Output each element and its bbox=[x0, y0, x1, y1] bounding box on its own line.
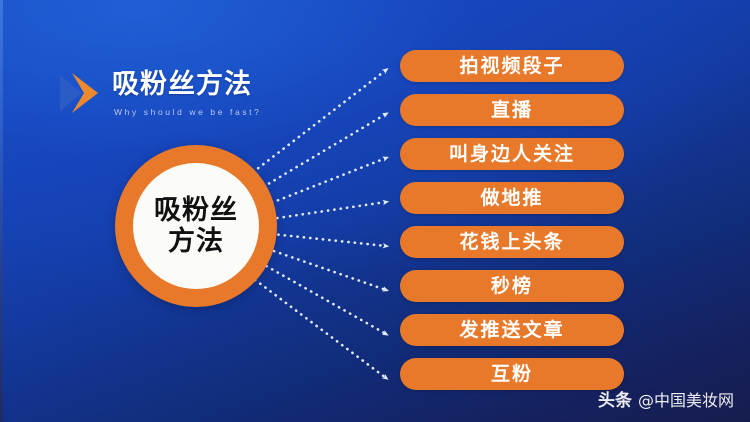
connector-line-5 bbox=[272, 234, 386, 246]
method-pill-8[interactable]: 互粉 bbox=[400, 358, 624, 390]
method-pill-label: 互粉 bbox=[491, 363, 533, 385]
page-subtitle: Why should we be fast? bbox=[114, 107, 261, 117]
watermark-platform-badge: 头条 bbox=[598, 386, 632, 411]
connector-line-4 bbox=[271, 202, 386, 219]
method-pill-1[interactable]: 拍视频段子 bbox=[400, 50, 624, 82]
method-pill-label: 叫身边人关注 bbox=[449, 143, 575, 165]
method-pill-label: 秒榜 bbox=[491, 275, 533, 297]
page-title: 吸粉丝方法 bbox=[112, 68, 261, 102]
center-hub-inner: 吸粉丝 方法 bbox=[133, 163, 259, 289]
connector-lines-layer bbox=[0, 0, 750, 422]
watermark: 头条 @中国美妆网 bbox=[598, 386, 734, 411]
connector-line-3 bbox=[266, 158, 386, 205]
left-edge-strip bbox=[0, 0, 3, 422]
center-hub-circle[interactable]: 吸粉丝 方法 bbox=[115, 145, 277, 307]
method-pill-label: 发推送文章 bbox=[459, 319, 564, 341]
method-pill-7[interactable]: 发推送文章 bbox=[400, 314, 624, 346]
method-pill-list: 拍视频段子 直播 叫身边人关注 做地推 花钱上头条 秒榜 发推送文章 互粉 bbox=[400, 50, 624, 390]
method-pill-6[interactable]: 秒榜 bbox=[400, 270, 624, 302]
method-pill-label: 做地推 bbox=[480, 187, 543, 209]
connector-line-6 bbox=[268, 249, 386, 290]
method-pill-label: 花钱上头条 bbox=[459, 231, 564, 253]
brand-header: 吸粉丝方法 Why should we be fast? bbox=[58, 70, 358, 132]
connector-line-8 bbox=[250, 276, 386, 378]
method-pill-5[interactable]: 花钱上头条 bbox=[400, 226, 624, 258]
method-pill-3[interactable]: 叫身边人关注 bbox=[400, 138, 624, 170]
double-chevron-arrow-logo-icon bbox=[58, 72, 106, 114]
method-pill-2[interactable]: 直播 bbox=[400, 94, 624, 126]
brand-text-block: 吸粉丝方法 Why should we be fast? bbox=[112, 68, 261, 117]
watermark-account-name: @中国美妆网 bbox=[638, 387, 734, 411]
connector-line-7 bbox=[261, 263, 386, 334]
method-pill-4[interactable]: 做地推 bbox=[400, 182, 624, 214]
method-pill-label: 拍视频段子 bbox=[459, 55, 564, 77]
slide-canvas: 吸粉丝方法 Why should we be fast? 吸粉丝 方法 拍视频段… bbox=[0, 0, 750, 422]
hub-label-line-1: 吸粉丝 bbox=[154, 195, 238, 226]
method-pill-label: 直播 bbox=[491, 99, 533, 121]
hub-label-line-2: 方法 bbox=[168, 226, 224, 257]
